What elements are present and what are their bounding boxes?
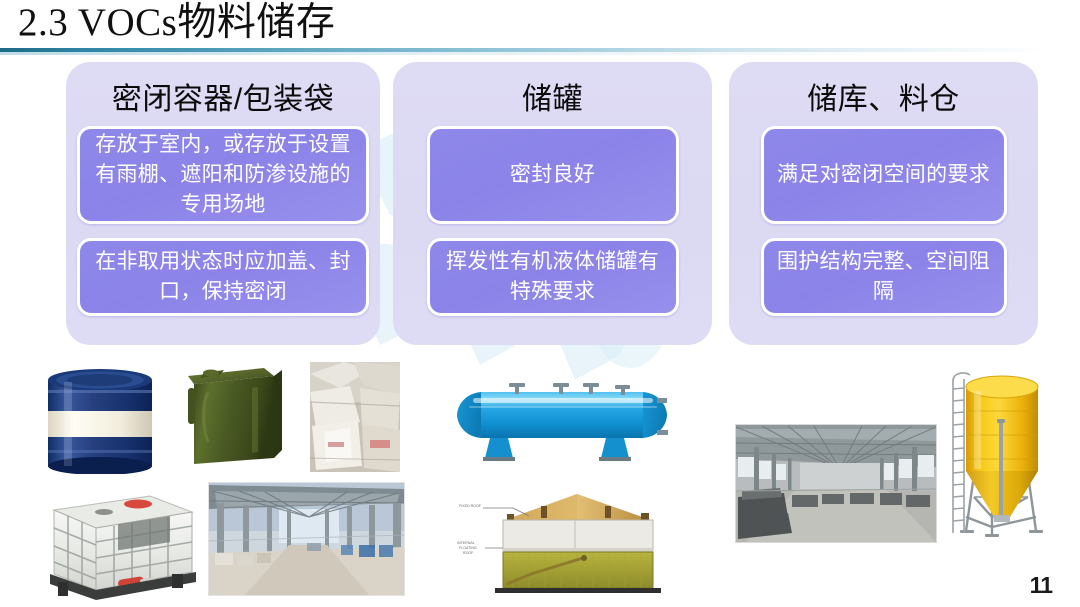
panel-item-text: 满足对密闭空间的要求 bbox=[772, 160, 996, 190]
panel-item-box: 密封良好 bbox=[427, 126, 679, 224]
floating-roof-tank-image: FIXED ROOF INTERNAL FLOATING ROOF bbox=[455, 480, 675, 598]
woven-bags-image bbox=[310, 362, 400, 472]
panel-item-text: 围护结构完整、空间阻隔 bbox=[772, 247, 996, 307]
warehouse-image bbox=[735, 424, 937, 543]
panel-storage-tank: 储罐 密封良好 挥发性有机液体储罐有特殊要求 bbox=[393, 62, 712, 345]
svg-text:INTERNAL: INTERNAL bbox=[457, 541, 475, 545]
slide-root: 2.3 VOCs物料储存 密闭容器/包装袋 存放于室内，或存放于设置有雨棚、遮阳… bbox=[0, 0, 1080, 607]
panel-sealed-containers: 密闭容器/包装袋 存放于室内，或存放于设置有雨棚、遮阳和防渗设施的专用场地 在非… bbox=[66, 62, 380, 345]
svg-text:ROOF: ROOF bbox=[463, 551, 474, 555]
page-number: 11 bbox=[1030, 572, 1052, 599]
horizontal-tank-image bbox=[455, 378, 670, 466]
panel-row: 密闭容器/包装袋 存放于室内，或存放于设置有雨棚、遮阳和防渗设施的专用场地 在非… bbox=[0, 62, 1080, 352]
page-title: 2.3 VOCs物料储存 bbox=[18, 0, 335, 47]
jerry-can-image bbox=[178, 358, 288, 470]
svg-text:FIXED ROOF: FIXED ROOF bbox=[459, 504, 482, 508]
panel-warehouse-silo: 储库、料仓 满足对密闭空间的要求 围护结构完整、空间阻隔 bbox=[729, 62, 1038, 345]
image-gallery: FIXED ROOF INTERNAL FLOATING ROOF bbox=[0, 352, 1080, 607]
panel-item-text: 存放于室内，或存放于设置有雨棚、遮阳和防渗设施的专用场地 bbox=[88, 130, 358, 220]
svg-text:FLOATING: FLOATING bbox=[459, 546, 477, 550]
panel-item-text: 挥发性有机液体储罐有特殊要求 bbox=[438, 247, 668, 307]
ibc-tote-image bbox=[32, 482, 202, 600]
panel-item-box: 在非取用状态时应加盖、封口，保持密闭 bbox=[77, 238, 369, 316]
panel-item-text: 密封良好 bbox=[438, 160, 668, 190]
title-divider-shadow bbox=[0, 52, 1080, 55]
open-shed-image bbox=[208, 482, 405, 596]
panel-item-box: 围护结构完整、空间阻隔 bbox=[761, 238, 1007, 316]
panel-item-box: 存放于室内，或存放于设置有雨棚、遮阳和防渗设施的专用场地 bbox=[77, 126, 369, 224]
panel-item-text: 在非取用状态时应加盖、封口，保持密闭 bbox=[88, 247, 358, 307]
steel-drum-image bbox=[42, 366, 158, 474]
panel-heading: 储库、料仓 bbox=[729, 62, 1038, 118]
panel-heading: 储罐 bbox=[393, 62, 712, 118]
title-bar: 2.3 VOCs物料储存 bbox=[0, 0, 1080, 52]
panel-heading: 密闭容器/包装袋 bbox=[66, 62, 380, 118]
panel-item-box: 挥发性有机液体储罐有特殊要求 bbox=[427, 238, 679, 316]
panel-item-box: 满足对密闭空间的要求 bbox=[761, 126, 1007, 224]
silo-image bbox=[940, 367, 1050, 547]
